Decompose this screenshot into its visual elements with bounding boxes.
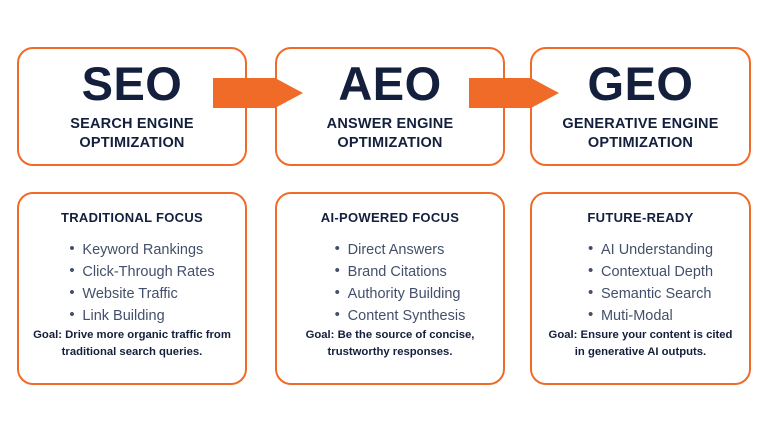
detail-card-aeo: AI-POWERED FOCUS Direct Answers Brand Ci… (275, 192, 505, 385)
stage-acronym-seo: SEO (82, 60, 183, 107)
column-geo: GEO GENERATIVE ENGINE OPTIMIZATION FUTUR… (530, 0, 760, 432)
column-seo: SEO SEARCH ENGINE OPTIMIZATION TRADITION… (17, 0, 247, 432)
stage-expansion-seo: SEARCH ENGINE OPTIMIZATION (19, 115, 245, 152)
infographic-canvas: SEO SEARCH ENGINE OPTIMIZATION TRADITION… (0, 0, 768, 432)
goal-text-aeo: Goal: Be the source of concise, trustwor… (287, 327, 493, 360)
arrow-right-icon (469, 78, 559, 108)
list-item: Keyword Rankings (69, 239, 214, 261)
bullet-list-aeo: Direct Answers Brand Citations Authority… (315, 239, 466, 327)
list-item: Website Traffic (69, 283, 214, 305)
list-item: AI Understanding (588, 239, 713, 261)
stage-acronym-aeo: AEO (338, 60, 441, 107)
list-item: Content Synthesis (335, 305, 466, 327)
focus-title-aeo: AI-POWERED FOCUS (321, 210, 459, 225)
bullet-list-seo: Keyword Rankings Click-Through Rates Web… (49, 239, 214, 327)
focus-title-seo: TRADITIONAL FOCUS (61, 210, 203, 225)
detail-card-seo: TRADITIONAL FOCUS Keyword Rankings Click… (17, 192, 247, 385)
arrow-right-icon (213, 78, 303, 108)
stage-acronym-geo: GEO (588, 60, 694, 107)
list-item: Muti-Modal (588, 305, 713, 327)
column-aeo: AEO ANSWER ENGINE OPTIMIZATION AI-POWERE… (275, 0, 505, 432)
stage-card-geo: GEO GENERATIVE ENGINE OPTIMIZATION (530, 47, 751, 166)
list-item: Authority Building (335, 283, 466, 305)
list-item: Click-Through Rates (69, 261, 214, 283)
focus-title-geo: FUTURE-READY (587, 210, 693, 225)
stage-expansion-aeo: ANSWER ENGINE OPTIMIZATION (277, 115, 503, 152)
list-item: Brand Citations (335, 261, 466, 283)
detail-card-geo: FUTURE-READY AI Understanding Contextual… (530, 192, 751, 385)
list-item: Direct Answers (335, 239, 466, 261)
bullet-list-geo: AI Understanding Contextual Depth Semant… (568, 239, 713, 327)
goal-text-geo: Goal: Ensure your content is cited in ge… (542, 327, 739, 360)
list-item: Semantic Search (588, 283, 713, 305)
list-item: Contextual Depth (588, 261, 713, 283)
goal-text-seo: Goal: Drive more organic traffic from tr… (29, 327, 235, 360)
stage-expansion-geo: GENERATIVE ENGINE OPTIMIZATION (532, 115, 749, 152)
list-item: Link Building (69, 305, 214, 327)
